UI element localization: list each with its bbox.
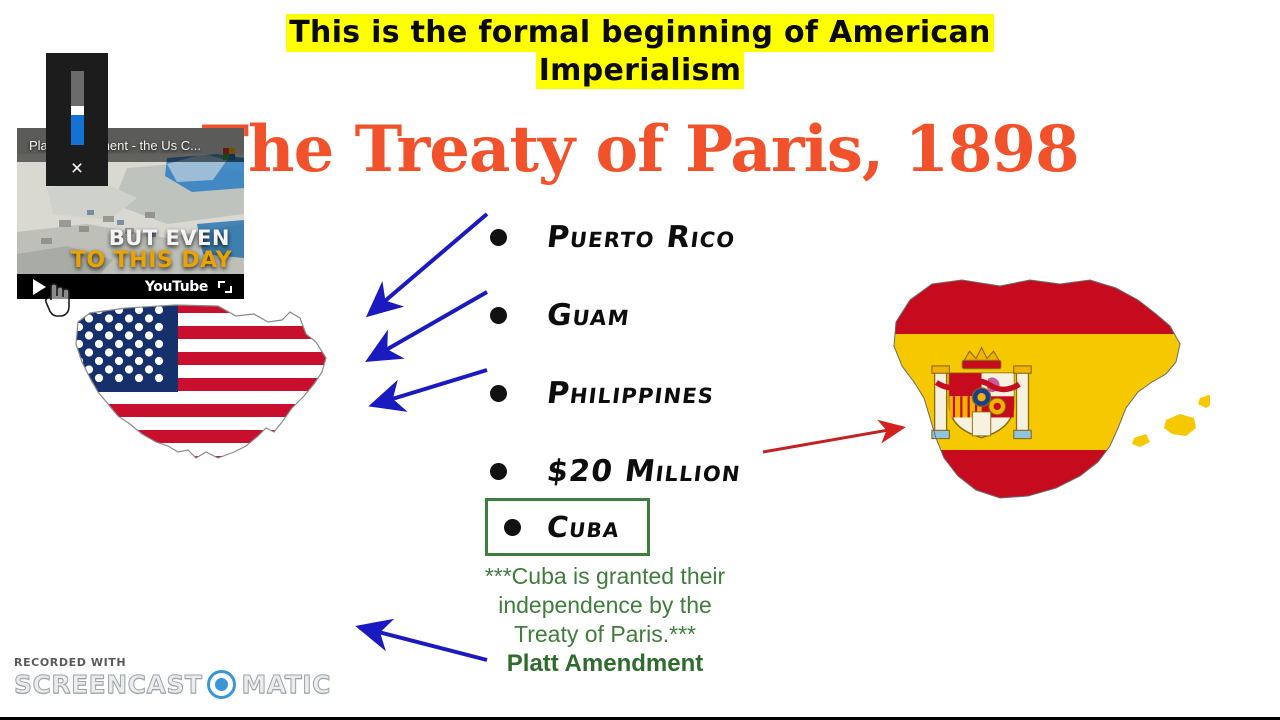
target-circle-icon [207,670,236,699]
list-item-label: Philippines [545,376,717,411]
video-caption-line-2: TO THIS DAY [71,248,232,273]
bullet-dot-icon [490,463,507,480]
arrow-puerto-rico-to-us [372,214,487,312]
mouse-cursor-hand [42,282,72,318]
list-item-label: Guam [545,298,632,333]
volume-slider[interactable] [71,71,84,145]
arrow-guam-to-us [372,292,487,358]
watermark-word-right: MATIC [241,670,331,699]
bullet-dot-icon [504,519,521,536]
watermark-logo: SCREENCAST MATIC [14,670,331,699]
list-item-label: $20 Million [545,454,743,489]
subtitle-line-2-text: Imperialism [536,52,745,90]
volume-fill [71,115,84,145]
balearic-islands [1132,394,1210,447]
video-caption-line-1: BUT EVEN [109,226,230,250]
bullet-dot-icon [490,229,507,246]
cuba-callout-box: Cuba [485,498,650,556]
slide-canvas: This is the formal beginning of American… [0,0,1280,720]
slide-subtitle: This is the formal beginning of American… [0,14,1280,89]
fullscreen-icon[interactable] [218,281,232,293]
cuba-independence-note: ***Cuba is granted their independence by… [440,562,770,649]
list-item: Philippines [490,354,820,432]
cuba-note-line-1: ***Cuba is granted their [440,562,770,591]
volume-thumb[interactable] [71,106,84,115]
bullet-dot-icon [490,307,507,324]
platt-amendment-label: Platt Amendment [440,650,770,678]
screencast-o-matic-watermark: RECORDED WITH SCREENCAST MATIC [14,656,331,699]
spain-flag-map [880,270,1210,525]
close-icon[interactable]: × [71,158,83,179]
arrow-philippines-to-us [376,370,487,404]
cuba-note-line-2: independence by the [440,591,770,620]
list-item: Guam [490,276,820,354]
subtitle-line-1-text: This is the formal beginning of American [286,14,993,52]
cuba-note-line-3: Treaty of Paris.*** [440,620,770,649]
list-item-label: Puerto Rico [545,220,738,255]
volume-panel[interactable]: × [46,53,108,186]
watermark-word-left: SCREENCAST [14,670,202,699]
treaty-terms-list: Puerto Rico Guam Philippines $20 Million [490,198,820,510]
cuba-label: Cuba [545,510,622,544]
subtitle-line-2: Imperialism [0,52,1280,90]
youtube-logo[interactable]: YouTube [145,279,208,295]
subtitle-line-1: This is the formal beginning of American [0,14,1280,52]
bullet-dot-icon [490,385,507,402]
watermark-top-line: RECORDED WITH [14,656,331,669]
united-states-flag-map [68,300,338,470]
list-item: Puerto Rico [490,198,820,276]
